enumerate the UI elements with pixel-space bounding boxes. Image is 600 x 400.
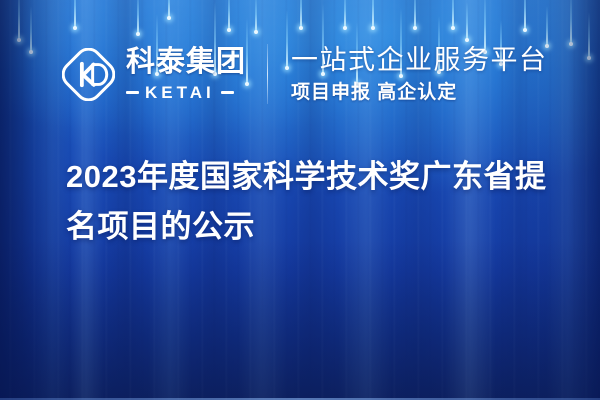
brand-logo[interactable]: 科泰集团 KETAI (62, 48, 246, 101)
tagline-block: 一站式企业服务平台 项目申报 高企认定 (291, 47, 548, 102)
banner-header: 科泰集团 KETAI 一站式企业服务平台 项目申报 高企认定 (62, 44, 548, 104)
brand-name-en-row: KETAI (126, 84, 246, 101)
promo-banner: 科泰集团 KETAI 一站式企业服务平台 项目申报 高企认定 2023年度国家科… (0, 0, 600, 400)
ketai-diamond-monogram-icon (62, 48, 115, 101)
brand-name-en: KETAI (145, 84, 215, 101)
tagline-main: 一站式企业服务平台 (291, 47, 548, 74)
header-divider (267, 44, 268, 104)
page-title: 2023年度国家科学技术奖广东省提名项目的公示 (66, 152, 566, 252)
brand-name-cn: 科泰集团 (126, 48, 246, 77)
dash-left-icon (126, 91, 139, 94)
tagline-sub: 项目申报 高企认定 (291, 83, 548, 102)
dash-right-icon (221, 91, 234, 94)
brand-wordmark: 科泰集团 KETAI (126, 48, 246, 101)
